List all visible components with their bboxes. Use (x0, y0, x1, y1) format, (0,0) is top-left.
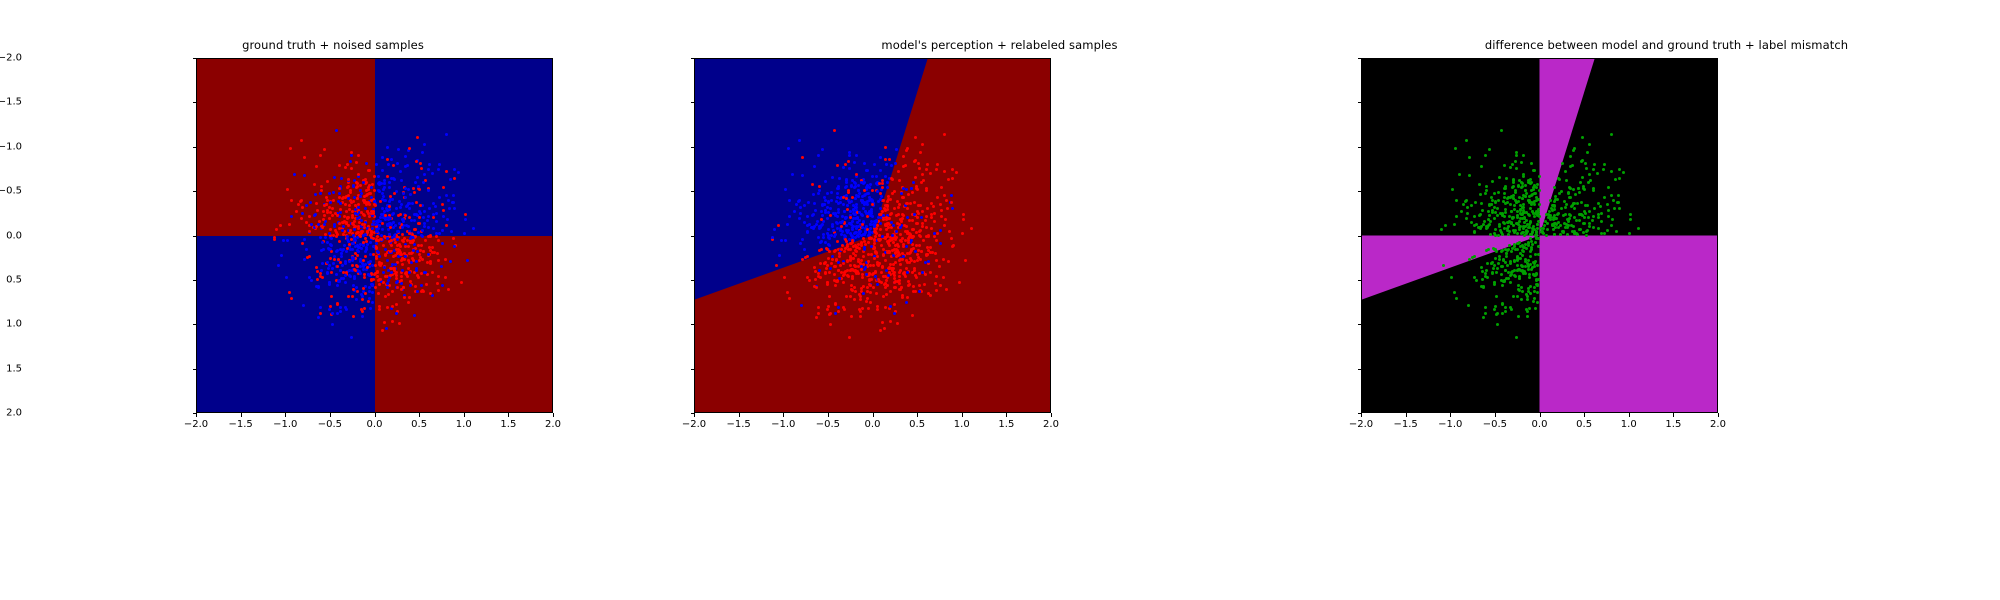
panel-difference: difference between model and ground trut… (1333, 0, 2000, 600)
xtick-mark (1006, 413, 1007, 417)
xtick-mark (1051, 413, 1052, 417)
decision-regions-model (695, 59, 1050, 412)
xtick-label: 0.5 (1576, 419, 1592, 430)
xtick-mark (508, 413, 509, 417)
xtick-label: 0.5 (909, 419, 925, 430)
ytick-mark (691, 413, 695, 414)
xtick-label: 0.0 (1532, 419, 1548, 430)
panel-ground-truth: ground truth + noised samples −2.0−1.5−1… (0, 0, 666, 600)
xtick-label: 1.0 (954, 419, 970, 430)
xtick-mark (917, 413, 918, 417)
xtick-label: 1.5 (998, 419, 1014, 430)
xtick-label: −2.0 (184, 419, 208, 430)
axes-difference (1361, 58, 1718, 413)
xtick-label: 1.0 (456, 419, 472, 430)
xtick-mark (828, 413, 829, 417)
xtick-label: −1.5 (228, 419, 252, 430)
xtick-mark (1718, 413, 1719, 417)
region-bottom-right (375, 236, 553, 413)
axes-model-perception (694, 58, 1051, 413)
xtick-mark (962, 413, 963, 417)
xtick-mark (196, 413, 197, 417)
xtick-mark (873, 413, 874, 417)
xtick-mark (464, 413, 465, 417)
difference-regions (1362, 59, 1717, 412)
ytick-mark (1358, 413, 1362, 414)
region-top-right (375, 59, 553, 236)
xtick-label: 0.5 (411, 419, 427, 430)
panel-title-ground-truth: ground truth + noised samples (0, 38, 666, 52)
xtick-mark (1540, 413, 1541, 417)
xtick-mark (285, 413, 286, 417)
xtick-mark (553, 413, 554, 417)
xtick-mark (739, 413, 740, 417)
xtick-label: −1.0 (1438, 419, 1462, 430)
xtick-mark (1406, 413, 1407, 417)
xtick-label: −0.5 (1483, 419, 1507, 430)
ytick-mark (193, 413, 197, 414)
xtick-label: −2.0 (682, 419, 706, 430)
xtick-label: 2.0 (545, 419, 561, 430)
model-blue-wedge (695, 59, 1050, 412)
xtick-label: 1.5 (1665, 419, 1681, 430)
xtick-label: −1.0 (273, 419, 297, 430)
panel-model-perception: model's perception + relabeled samples −… (666, 0, 1333, 600)
xtick-mark (419, 413, 420, 417)
xtick-label: 2.0 (1710, 419, 1726, 430)
xtick-mark (241, 413, 242, 417)
xtick-label: 0.0 (367, 419, 383, 430)
region-top-left (197, 59, 375, 236)
xtick-mark (783, 413, 784, 417)
xtick-label: 0.0 (865, 419, 881, 430)
xtick-label: −0.5 (318, 419, 342, 430)
decision-regions-ground-truth (197, 59, 552, 412)
xtick-label: −1.5 (1393, 419, 1417, 430)
xtick-label: 1.0 (1621, 419, 1637, 430)
xtick-label: 2.0 (1043, 419, 1059, 430)
xtick-label: −1.0 (771, 419, 795, 430)
xtick-mark (1673, 413, 1674, 417)
xtick-mark (1450, 413, 1451, 417)
xtick-label: −2.0 (1349, 419, 1373, 430)
xtick-mark (1584, 413, 1585, 417)
xtick-mark (1629, 413, 1630, 417)
xtick-mark (1361, 413, 1362, 417)
xtick-mark (330, 413, 331, 417)
panel-title-model-perception: model's perception + relabeled samples (666, 38, 1333, 52)
axes-ground-truth (196, 58, 553, 413)
panel-title-difference: difference between model and ground trut… (1333, 38, 2000, 52)
xtick-mark (1495, 413, 1496, 417)
xtick-label: −0.5 (816, 419, 840, 430)
xtick-mark (375, 413, 376, 417)
xtick-mark (694, 413, 695, 417)
matplotlib-figure: ground truth + noised samples −2.0−1.5−1… (0, 0, 2000, 600)
xtick-label: 1.5 (500, 419, 516, 430)
xtick-label: −1.5 (726, 419, 750, 430)
region-bottom-left (197, 236, 375, 413)
disagreement-mask (1362, 59, 1717, 412)
